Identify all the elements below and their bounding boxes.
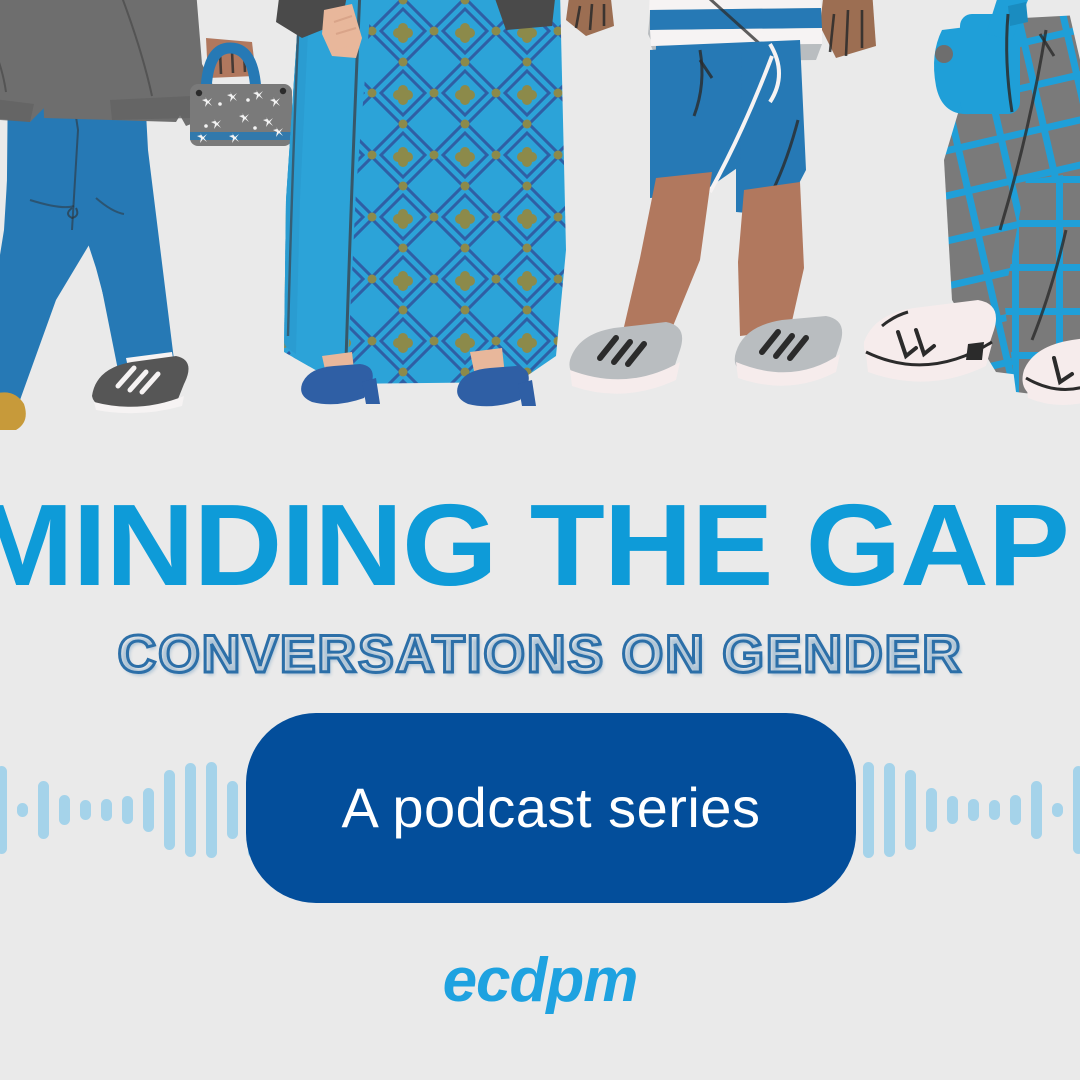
- waveform-bar: [884, 763, 895, 857]
- podcast-series-button[interactable]: A podcast series: [246, 713, 856, 903]
- podcast-poster: MINDING THE GAP: CONVERSATIONS ON GENDER…: [0, 0, 1080, 1080]
- waveform-bar: [59, 795, 70, 825]
- waveform-bar: [968, 799, 979, 821]
- figure-patterned-dress: [270, 0, 590, 406]
- podcast-series-button-label: A podcast series: [342, 780, 761, 836]
- waveform-bar: [143, 788, 154, 832]
- waveform-bar: [926, 788, 937, 832]
- waveform-bar: [989, 800, 1000, 820]
- walking-people-illustration: [0, 0, 1080, 430]
- waveform-bar: [1052, 803, 1063, 817]
- page-subtitle: CONVERSATIONS ON GENDER: [0, 624, 1080, 686]
- waveform-bar: [101, 799, 112, 821]
- waveform-bar: [1010, 795, 1021, 825]
- waveform-bar: [80, 800, 91, 820]
- waveform-bar: [905, 770, 916, 850]
- waveform-bar: [122, 796, 133, 824]
- waveform-bar: [863, 762, 874, 858]
- waveform-bar: [1073, 766, 1080, 854]
- waveform-bar: [227, 781, 238, 839]
- waveform-bar: [38, 781, 49, 839]
- waveform-bar: [0, 766, 7, 854]
- waveform-bar: [1031, 781, 1042, 839]
- waveform-bar: [17, 803, 28, 817]
- waveform-bar: [947, 796, 958, 824]
- waveform-bar: [164, 770, 175, 850]
- page-title: MINDING THE GAP:: [0, 492, 1080, 598]
- waveform-bar: [185, 763, 196, 857]
- ecdpm-logo: ecdpm: [0, 950, 1080, 1012]
- waveform-bar: [206, 762, 217, 858]
